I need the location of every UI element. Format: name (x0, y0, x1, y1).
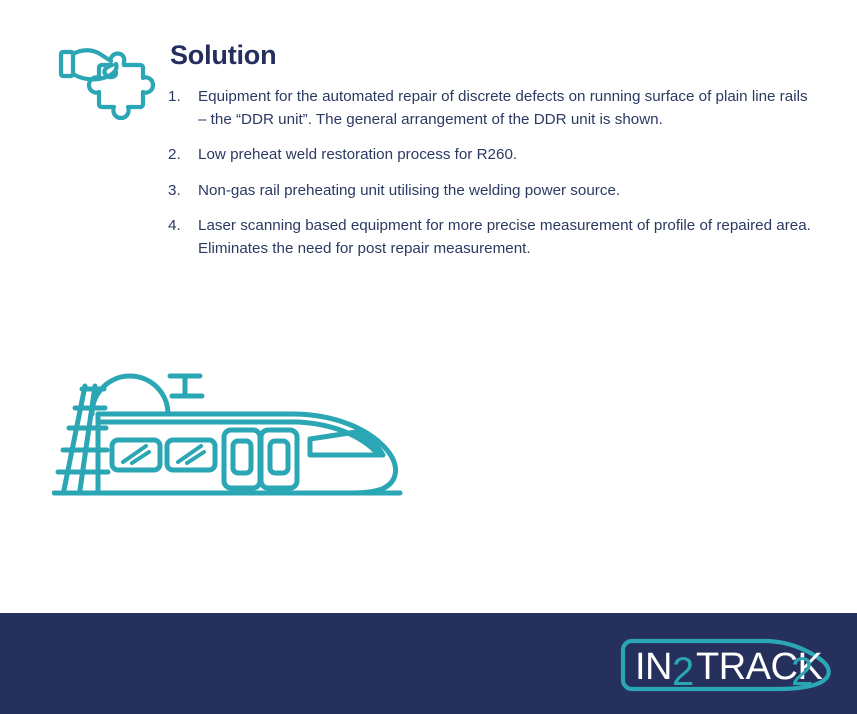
list-item-number: 3. (168, 180, 198, 203)
list-item-number: 1. (168, 86, 198, 109)
pantograph-icon (170, 376, 202, 396)
hand-holding-puzzle-piece-icon (56, 36, 164, 134)
list-item-text: Equipment for the automated repair of di… (198, 86, 818, 131)
list-item-text: Laser scanning based equipment for more … (198, 215, 818, 260)
train-window (167, 440, 215, 470)
high-speed-train-on-track-illustration (52, 362, 412, 507)
list-item: 1. Equipment for the automated repair of… (168, 86, 818, 131)
list-item: 4. Laser scanning based equipment for mo… (168, 215, 818, 260)
logo-text-2a: 2 (672, 650, 694, 694)
slide-canvas: Solution 1. Equipment for the automated … (0, 0, 857, 714)
train-door (224, 430, 260, 488)
logo-text-in: IN (635, 646, 672, 688)
list-item-text: Non-gas rail preheating unit utilising t… (198, 180, 818, 203)
list-item: 3. Non-gas rail preheating unit utilisin… (168, 180, 818, 203)
solution-list: 1. Equipment for the automated repair of… (168, 86, 818, 273)
in2track2-logo[interactable]: IN 2 TRACK 2 (618, 633, 840, 697)
list-item-number: 4. (168, 215, 198, 238)
list-item: 2. Low preheat weld restoration process … (168, 144, 818, 167)
page-title: Solution (170, 41, 276, 71)
train-door (261, 430, 297, 488)
list-item-number: 2. (168, 144, 198, 167)
train-window (112, 440, 160, 470)
list-item-text: Low preheat weld restoration process for… (198, 144, 818, 167)
logo-text-2b: 2 (791, 650, 813, 694)
